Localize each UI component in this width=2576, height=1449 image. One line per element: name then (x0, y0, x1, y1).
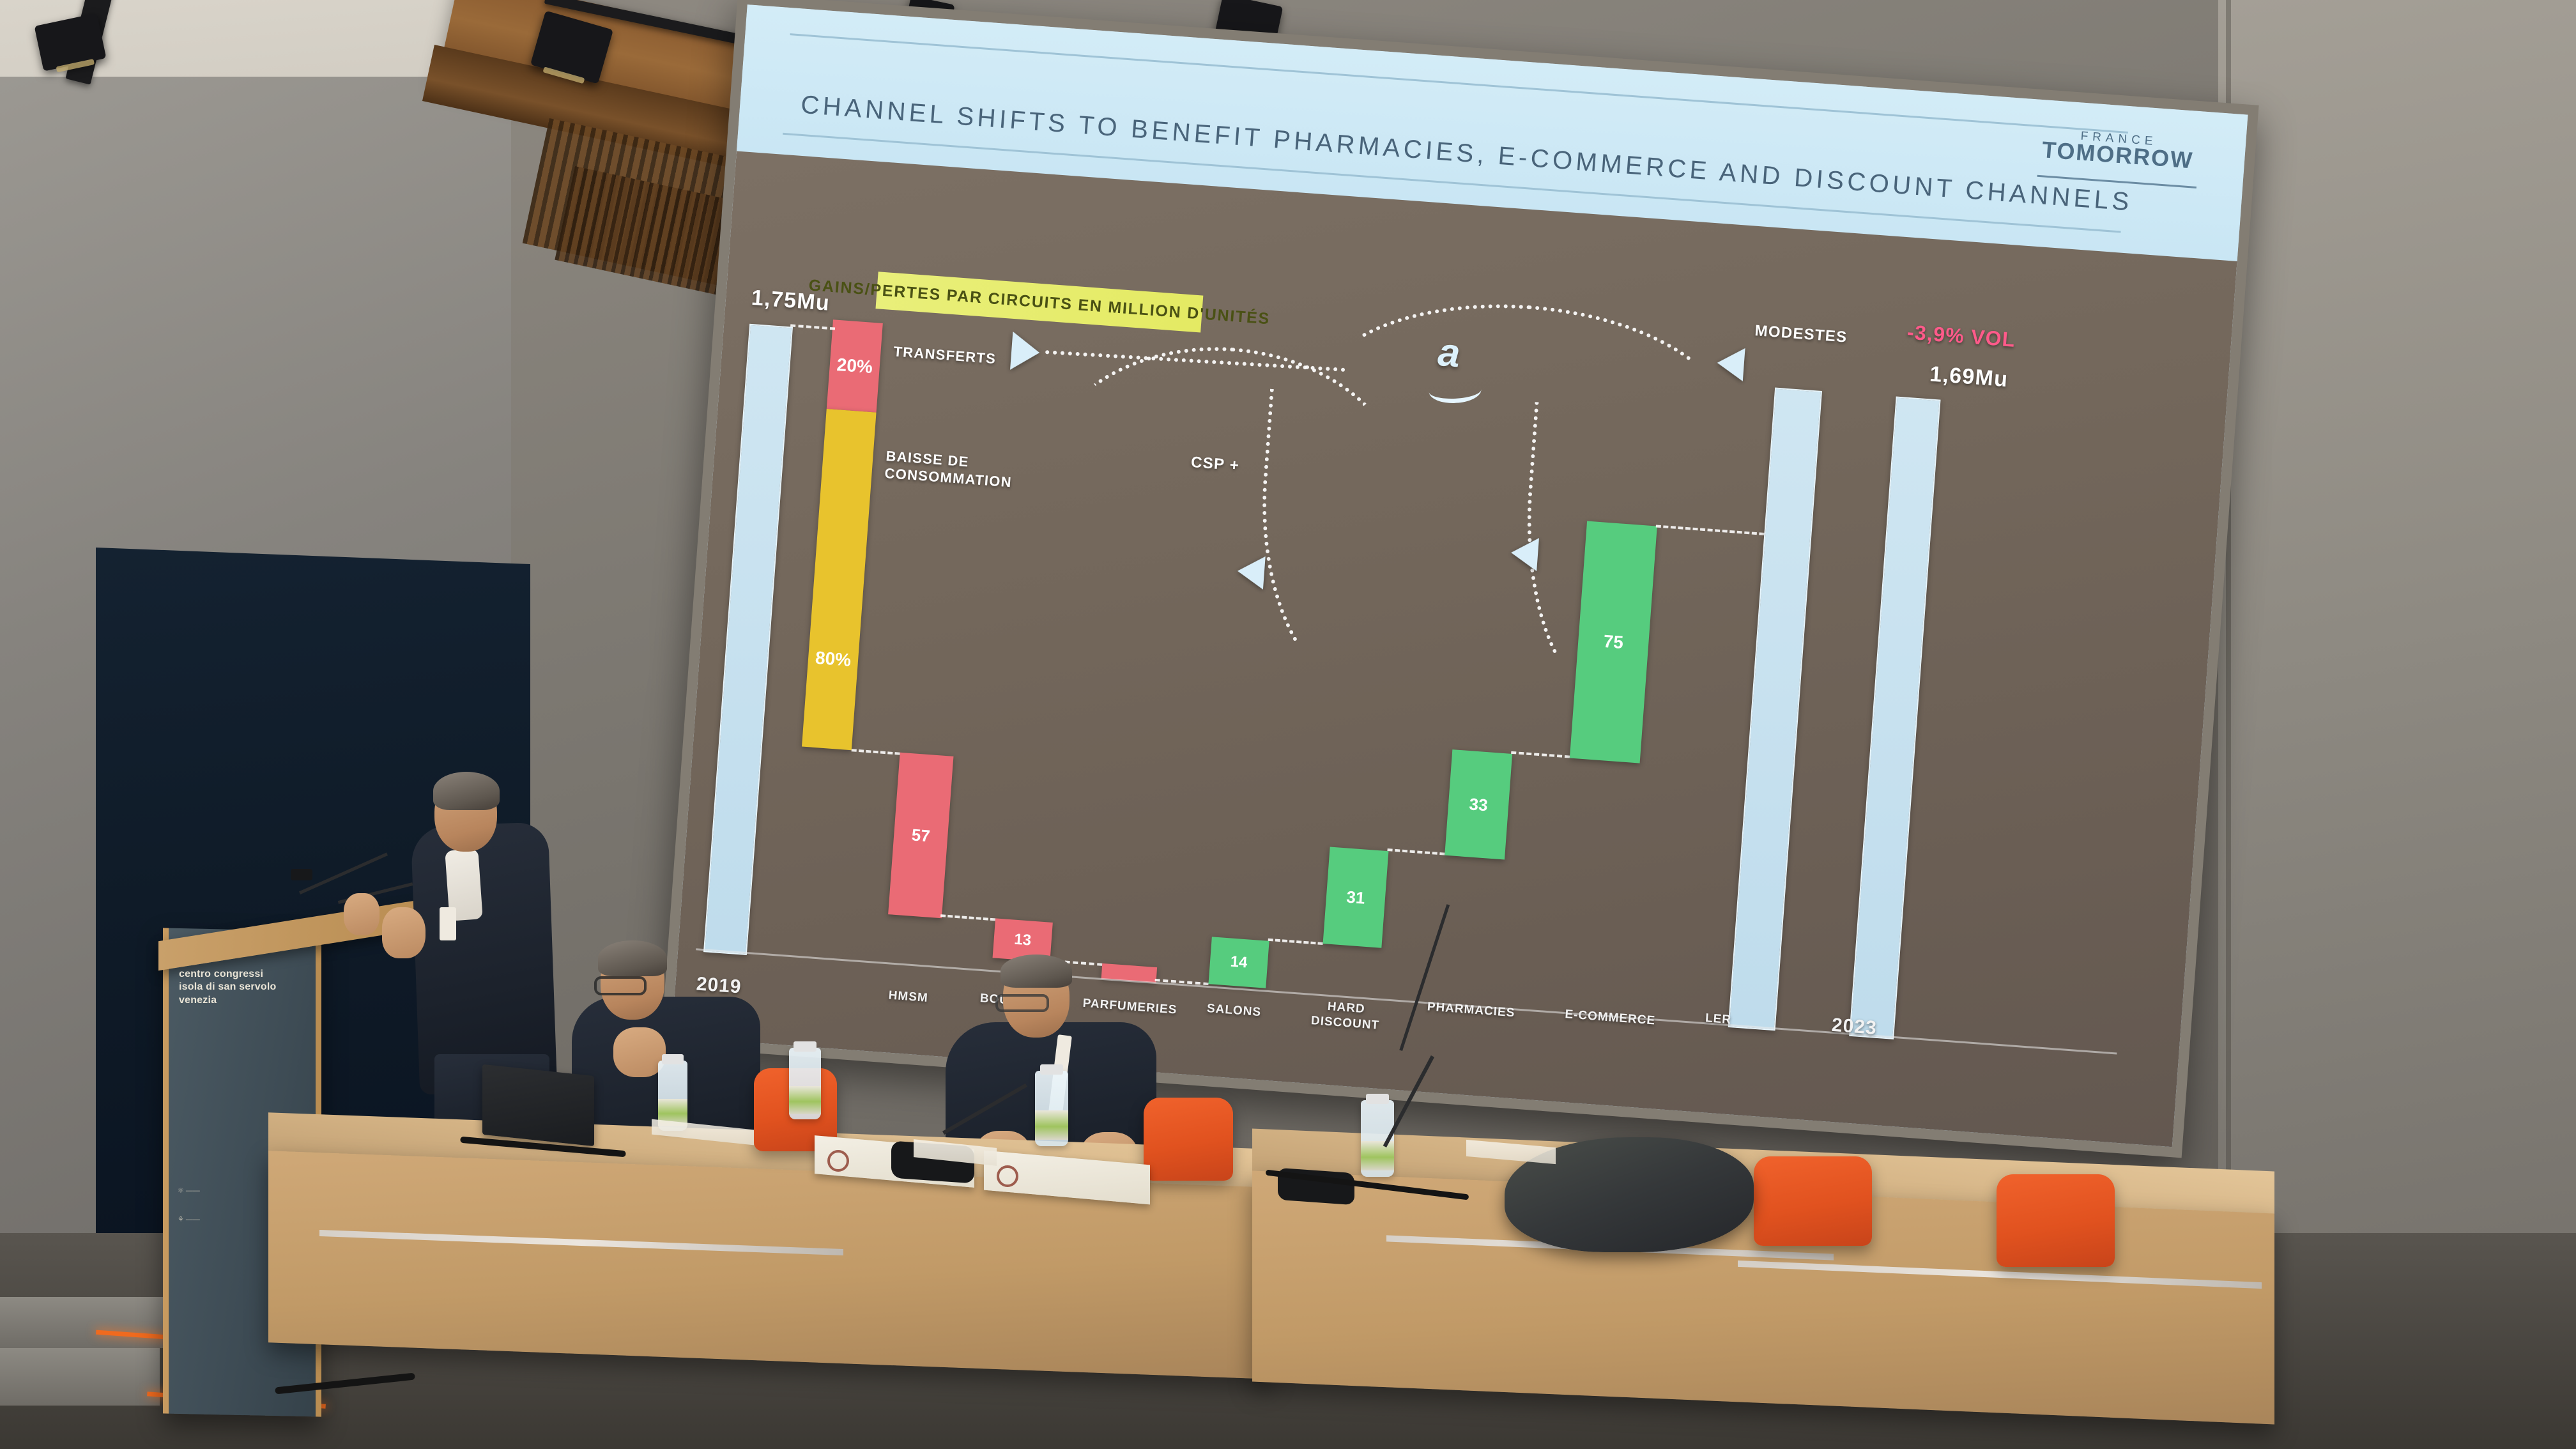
stage-step-lower (0, 1348, 160, 1406)
presenter-hand-right (344, 893, 379, 935)
bar-2023-reference (1849, 396, 1940, 1039)
panelist-right-glasses-icon (995, 994, 1049, 1012)
bar-pharmacies: 33 (1445, 749, 1512, 859)
arrow-transferts-icon (1010, 332, 1041, 372)
water-bottle-label (1361, 1141, 1394, 1170)
nameplate-crest-icon (997, 1165, 1018, 1187)
bar-label-hard-discount: 31 (1345, 887, 1365, 908)
podium-sublogos: ⚛ —— ⚘ —— (178, 1185, 200, 1225)
axis-label-pharmacies: PHARMACIES (1404, 999, 1538, 1022)
laptop[interactable] (482, 1064, 594, 1146)
podium-sign: centro congressi isola di san servolo ve… (179, 968, 277, 1007)
orange-chair[interactable] (1997, 1174, 2115, 1267)
flow-curve-csp-descend (1248, 389, 1437, 698)
podium-sign-line3: venezia (179, 994, 277, 1007)
bar-consumption-80pct: 80% (802, 409, 877, 750)
bar-label-salons: 14 (1230, 953, 1248, 972)
projection-screen-frame: FRANCE TOMORROW CHANNEL SHIFTS TO BENEFI… (661, 0, 2259, 1158)
podium-sign-line2: isola di san servolo (179, 981, 277, 993)
subtitle-band: GAINS/PERTES PAR CIRCUITS EN MILLION D'U… (875, 272, 1203, 332)
bar-2023-total (1728, 388, 1822, 1031)
connector-pharmacies-to-ecommerce (1511, 751, 1570, 758)
start-value-label: 1,75Mu (751, 286, 831, 316)
bar-salons: 14 (1208, 937, 1269, 988)
axis-label-2019: 2019 (680, 972, 758, 1000)
bar-label-transfers-pct: 20% (836, 355, 873, 378)
connector-baseline-to-split (790, 324, 835, 330)
podium-mic-head (291, 869, 312, 880)
bar-label-pharmacies: 33 (1469, 794, 1489, 815)
bar-label-ecommerce: 75 (1603, 631, 1624, 653)
delta-volume-label: -3,9% VOL (1906, 321, 2016, 352)
axis-label-parfumeries: PARFUMERIES (1066, 995, 1194, 1019)
annotation-modestes: MODESTES (1754, 322, 1848, 347)
annotation-transferts: TRANSFERTS (893, 343, 997, 367)
water-bottle-cap (662, 1054, 684, 1064)
water-bottle-label (789, 1086, 821, 1114)
amazon-logo-icon: a (1436, 330, 1462, 376)
bar-hmsm: 57 (888, 753, 953, 918)
bar-transfers-20pct: 20% (827, 319, 883, 412)
orange-chair[interactable] (1754, 1156, 1872, 1246)
annotation-csp-plus: CSP + (1190, 454, 1240, 475)
arrow-modestes-icon (1716, 346, 1745, 381)
bar-label-hmsm: 57 (911, 825, 931, 846)
water-bottle-cap (793, 1041, 816, 1052)
end-value-label: 1,69Mu (1929, 362, 2009, 392)
subtitle-band-text: GAINS/PERTES PAR CIRCUITS EN MILLION D'U… (808, 276, 1271, 328)
wall-right-column (2218, 0, 2576, 1316)
bar-2019-baseline (703, 324, 793, 955)
annotation-baisse-consommation: BAISSE DE CONSOMMATION (884, 448, 1014, 491)
presenter-badge (440, 907, 456, 940)
presenter-hand-left (382, 907, 425, 958)
axis-label-ecommerce: E-COMMERCE (1537, 1006, 1684, 1031)
presenter-hair (433, 772, 500, 810)
nameplate-crest-icon (827, 1150, 849, 1172)
connector-hmsm-to-boutiques (940, 914, 995, 921)
bar-label-boutiques: 13 (1013, 931, 1032, 950)
arrow-amazon-icon (1510, 536, 1539, 571)
connector-hard-discount-to-pharmacies (1387, 848, 1445, 855)
connector-salons-to-hard-discount (1268, 939, 1323, 945)
arrow-csp-icon (1236, 555, 1266, 590)
connector-split-to-hmsm (852, 749, 900, 755)
axis-label-hmsm: HMSM (866, 987, 950, 1007)
brand-logo: FRANCE TOMORROW (2041, 128, 2195, 171)
axis-label-salons: SALONS (1186, 1000, 1282, 1022)
panelist-right-hair (1000, 954, 1072, 988)
podium-sublogo-2-icon: ⚘ —— (178, 1214, 200, 1226)
orange-chair[interactable] (1144, 1098, 1233, 1181)
podium-sublogo-1-icon: ⚛ —— (178, 1185, 200, 1197)
conference-room-photo: FRANCE TOMORROW CHANNEL SHIFTS TO BENEFI… (0, 0, 2576, 1449)
bar-label-consumption-pct: 80% (815, 648, 852, 671)
panelist-left-glasses-icon (594, 976, 647, 995)
slide-body: GAINS/PERTES PAR CIRCUITS EN MILLION D'U… (671, 151, 2237, 1147)
water-bottle-cap (1366, 1094, 1389, 1104)
water-bottle-cap (1040, 1064, 1063, 1075)
bar-hard-discount: 31 (1323, 847, 1389, 947)
podium-sign-line1: centro congressi (179, 968, 277, 981)
projection-screen: FRANCE TOMORROW CHANNEL SHIFTS TO BENEFI… (671, 4, 2248, 1147)
panelist-left-hair (598, 940, 667, 976)
axis-label-hard-discount: HARD DISCOUNT (1287, 996, 1404, 1035)
water-bottle-label (1035, 1110, 1068, 1140)
